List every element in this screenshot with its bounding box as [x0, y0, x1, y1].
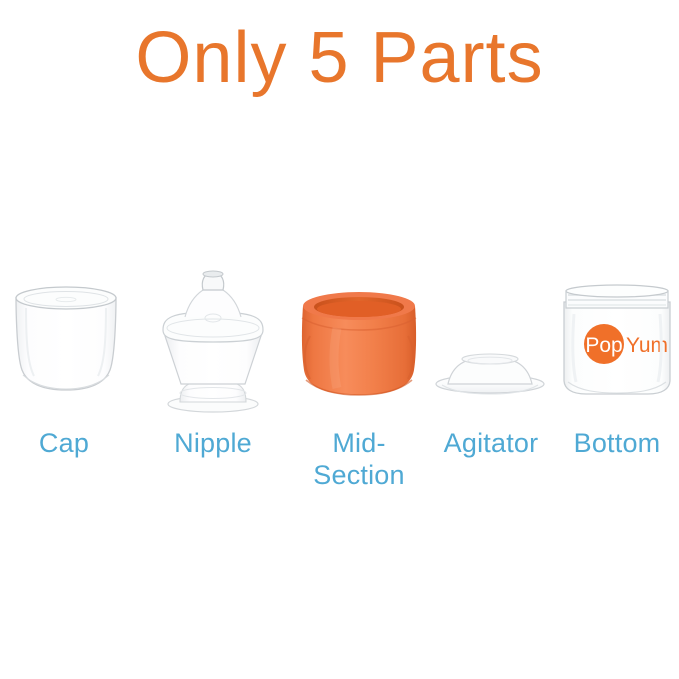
page-title: Only 5 Parts — [0, 22, 679, 94]
part-image-nipple — [157, 268, 269, 416]
part-image-bottom: Pop Yum — [558, 282, 676, 398]
parts-illustration-row: Pop Yum — [0, 270, 679, 430]
mid-section-opening-inner — [317, 301, 401, 317]
logo-badge-text: Pop — [585, 334, 622, 357]
cap-body — [16, 298, 116, 390]
part-label-mid-section-line2: Section — [313, 460, 404, 490]
nipple-teat-tip — [203, 271, 223, 277]
parts-label-row: Cap Nipple Mid- Section Agitator Bottom — [0, 428, 679, 498]
cap-top-rim — [16, 287, 116, 309]
part-image-mid-section — [299, 284, 419, 400]
nipple-shoulder — [185, 290, 241, 317]
part-label-nipple: Nipple — [146, 428, 280, 460]
part-image-agitator — [434, 348, 546, 398]
bottom-top-rim — [566, 285, 668, 297]
part-label-bottom: Bottom — [556, 428, 678, 460]
nipple-body — [165, 336, 261, 384]
part-image-cap — [14, 284, 118, 396]
part-label-agitator: Agitator — [420, 428, 562, 460]
part-label-mid-section: Mid- Section — [292, 428, 426, 492]
mid-section-highlight — [334, 328, 337, 388]
part-label-cap: Cap — [6, 428, 122, 460]
part-label-mid-section-line1: Mid- — [332, 428, 385, 458]
product-parts-infographic: Only 5 Parts — [0, 0, 679, 679]
